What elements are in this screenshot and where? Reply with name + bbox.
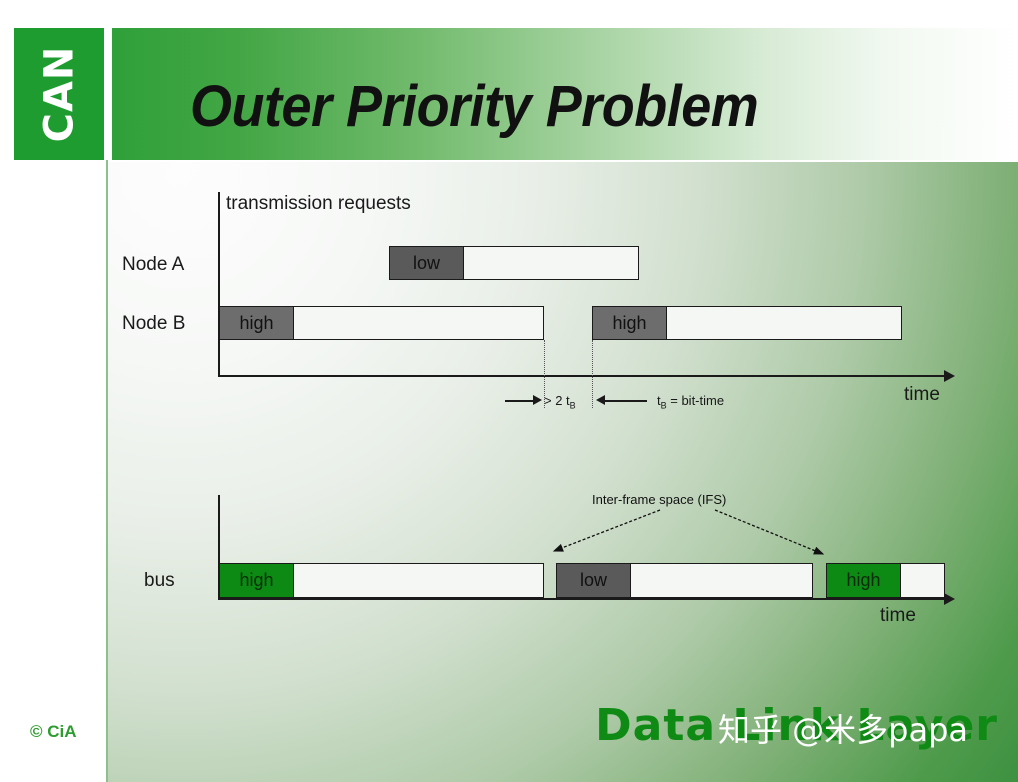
bit-time-definition: = bit-time bbox=[667, 393, 724, 408]
ifs-arrow-left bbox=[554, 510, 660, 551]
header-underline bbox=[108, 160, 1018, 162]
row-label-node-b: Node B bbox=[122, 313, 185, 335]
ifs-arrows bbox=[540, 505, 840, 570]
node-b-frame-2-priority: high bbox=[592, 306, 667, 340]
upper-y-axis bbox=[218, 192, 220, 377]
upper-time-axis-arrowhead bbox=[944, 370, 955, 382]
can-logo: CAN bbox=[14, 28, 104, 160]
row-label-node-a: Node A bbox=[122, 254, 184, 276]
lower-time-axis-arrowhead bbox=[944, 593, 955, 605]
gap-annotation-subscript: B bbox=[570, 401, 576, 411]
top-white-margin bbox=[0, 0, 1018, 26]
upper-time-label: time bbox=[904, 384, 940, 406]
footer-vertical-rule bbox=[106, 690, 108, 782]
gap-arrow-left-head bbox=[533, 395, 542, 405]
can-logo-text: CAN bbox=[36, 46, 82, 143]
guide-line-right bbox=[592, 340, 593, 408]
left-vertical-rule bbox=[106, 160, 108, 782]
lower-time-label: time bbox=[880, 605, 916, 627]
gap-arrow-right-shaft bbox=[605, 400, 647, 402]
header-separator bbox=[106, 28, 109, 160]
bit-time-legend: tB = bit-time bbox=[657, 393, 724, 411]
page-title: Outer Priority Problem bbox=[190, 58, 953, 154]
ifs-arrow-right bbox=[715, 510, 823, 554]
bus-frame-1-priority: high bbox=[219, 563, 294, 598]
upper-time-axis bbox=[218, 375, 945, 377]
gap-arrow-right-head bbox=[596, 395, 605, 405]
upper-axis-caption: transmission requests bbox=[226, 193, 411, 215]
lower-time-axis bbox=[218, 598, 945, 600]
footer-copyright: © CiA bbox=[30, 722, 77, 742]
left-white-margin bbox=[0, 160, 108, 782]
gap-annotation: > 2 tB bbox=[544, 393, 576, 411]
node-b-frame-1-priority: high bbox=[219, 306, 294, 340]
watermark-text: 知乎 @米多papa bbox=[718, 705, 968, 751]
gap-annotation-text: > 2 t bbox=[544, 393, 570, 408]
node-a-frame-1-priority: low bbox=[389, 246, 464, 280]
slide-canvas: CAN Outer Priority Problem transmission … bbox=[0, 0, 1018, 782]
row-label-bus: bus bbox=[144, 570, 175, 592]
gap-arrow-left-shaft bbox=[505, 400, 535, 402]
